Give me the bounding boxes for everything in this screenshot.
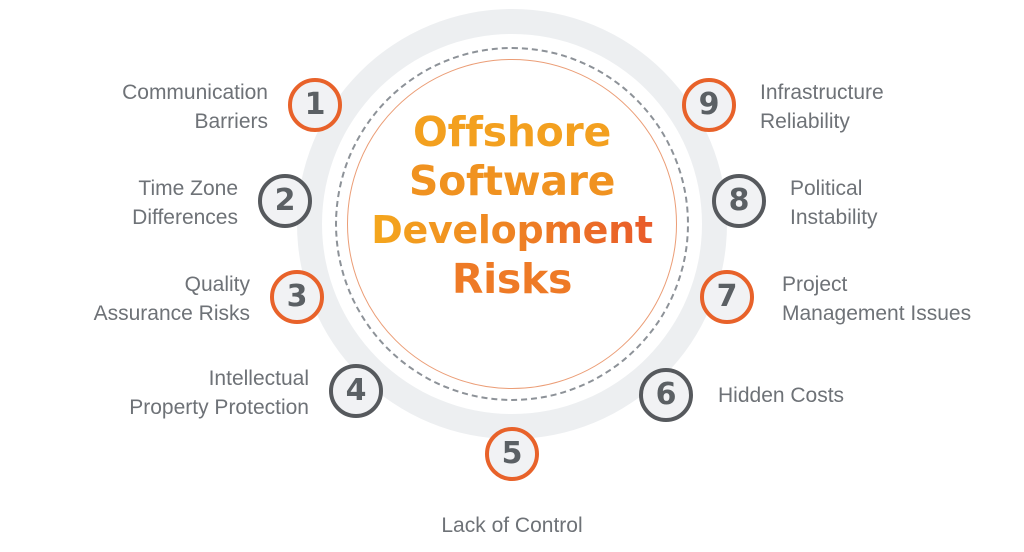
- center-title-line-2: Software: [352, 157, 672, 206]
- label-4-line-2: Property Protection: [20, 393, 309, 422]
- label-9-line-2: Reliability: [760, 107, 1010, 136]
- badge-4[interactable]: 4: [329, 364, 383, 418]
- label-2-line-1: Time Zone: [20, 174, 238, 203]
- label-8-line-1: Political: [790, 174, 1010, 203]
- label-9-line-1: Infrastructure: [760, 78, 1010, 107]
- label-1-line-1: Communication: [20, 78, 268, 107]
- label-8: Political Instability: [790, 174, 1010, 232]
- center-title: Offshore Software Development Risks: [352, 108, 672, 304]
- label-5-line-1: Lack of Control: [362, 511, 662, 540]
- infographic-canvas: Offshore Software Development Risks 1 Co…: [0, 0, 1024, 552]
- label-3-line-1: Quality: [20, 270, 250, 299]
- badge-9-number: 9: [699, 90, 720, 120]
- label-7-line-1: Project: [782, 270, 1014, 299]
- badge-8-number: 8: [729, 186, 750, 216]
- center-title-line-3: Development: [352, 206, 672, 255]
- badge-6[interactable]: 6: [639, 368, 693, 422]
- badge-2-number: 2: [275, 186, 296, 216]
- badge-9[interactable]: 9: [682, 78, 736, 132]
- label-7: Project Management Issues: [782, 270, 1014, 328]
- label-2-line-2: Differences: [20, 203, 238, 232]
- label-2: Time Zone Differences: [20, 174, 238, 232]
- badge-1-number: 1: [305, 90, 326, 120]
- label-6: Hidden Costs: [718, 381, 1008, 410]
- label-5: Lack of Control: [362, 511, 662, 540]
- label-7-line-2: Management Issues: [782, 299, 1014, 328]
- badge-4-number: 4: [346, 376, 367, 406]
- label-8-line-2: Instability: [790, 203, 1010, 232]
- center-title-line-1: Offshore: [352, 108, 672, 157]
- badge-5-number: 5: [502, 439, 523, 469]
- label-4-line-1: Intellectual: [20, 364, 309, 393]
- badge-7-number: 7: [717, 282, 738, 312]
- badge-3[interactable]: 3: [270, 270, 324, 324]
- badge-8[interactable]: 8: [712, 174, 766, 228]
- badge-3-number: 3: [287, 282, 308, 312]
- label-9: Infrastructure Reliability: [760, 78, 1010, 136]
- badge-6-number: 6: [656, 380, 677, 410]
- label-4: Intellectual Property Protection: [20, 364, 309, 422]
- label-3-line-2: Assurance Risks: [20, 299, 250, 328]
- label-3: Quality Assurance Risks: [20, 270, 250, 328]
- badge-2[interactable]: 2: [258, 174, 312, 228]
- badge-7[interactable]: 7: [700, 270, 754, 324]
- label-1-line-2: Barriers: [20, 107, 268, 136]
- badge-5[interactable]: 5: [485, 427, 539, 481]
- center-title-line-4: Risks: [352, 255, 672, 304]
- label-6-line-1: Hidden Costs: [718, 381, 1008, 410]
- badge-1[interactable]: 1: [288, 78, 342, 132]
- label-1: Communication Barriers: [20, 78, 268, 136]
